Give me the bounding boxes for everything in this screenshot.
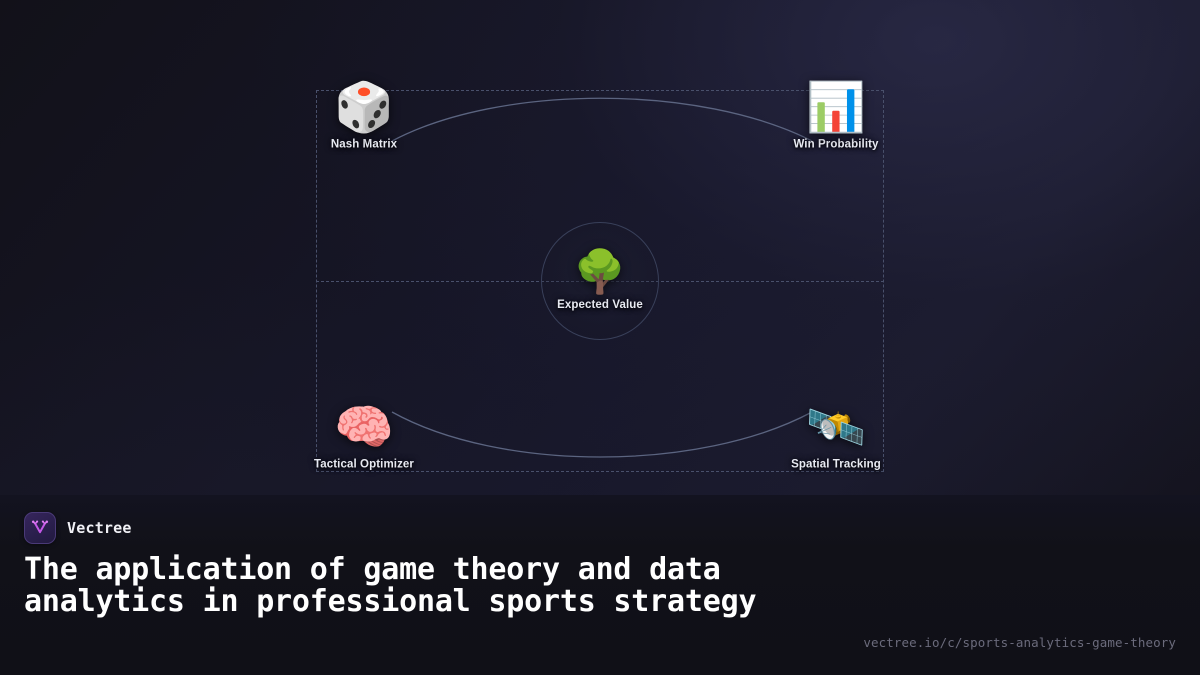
graph-node-label: Expected Value [557, 299, 643, 311]
graph-node-nash-matrix[interactable]: 🎲 Nash Matrix [331, 84, 397, 151]
card-footer: Vectree The application of game theory a… [0, 495, 1200, 675]
brand-name: Vectree [67, 519, 132, 537]
bar-chart-icon: 📊 [806, 84, 866, 132]
vectree-branch-logo-icon [24, 512, 56, 544]
card-headline: The application of game theory and data … [24, 554, 834, 618]
graph-node-label: Win Probability [793, 139, 878, 151]
graph-canvas: 🎲 Nash Matrix 📊 Win Probability 🌳 Expect… [0, 0, 1200, 495]
graph-node-label: Spatial Tracking [791, 459, 881, 471]
brain-icon: 🧠 [334, 404, 394, 452]
logo-glyph [30, 518, 50, 538]
satellite-icon: 🛰️ [806, 404, 866, 452]
share-card: 🎲 Nash Matrix 📊 Win Probability 🌳 Expect… [0, 0, 1200, 675]
graph-node-spatial-tracking[interactable]: 🛰️ Spatial Tracking [791, 404, 881, 471]
dice-icon: 🎲 [334, 84, 394, 132]
card-url: vectree.io/c/sports-analytics-game-theor… [863, 635, 1176, 650]
graph-node-label: Nash Matrix [331, 139, 397, 151]
graph-node-tactical-optimizer[interactable]: 🧠 Tactical Optimizer [314, 404, 414, 471]
brand-row[interactable]: Vectree [24, 511, 1176, 545]
graph-node-expected-value[interactable]: 🌳 Expected Value [541, 222, 659, 340]
graph-node-label: Tactical Optimizer [314, 459, 414, 471]
tree-icon: 🌳 [574, 251, 626, 293]
graph-node-win-probability[interactable]: 📊 Win Probability [793, 84, 878, 151]
